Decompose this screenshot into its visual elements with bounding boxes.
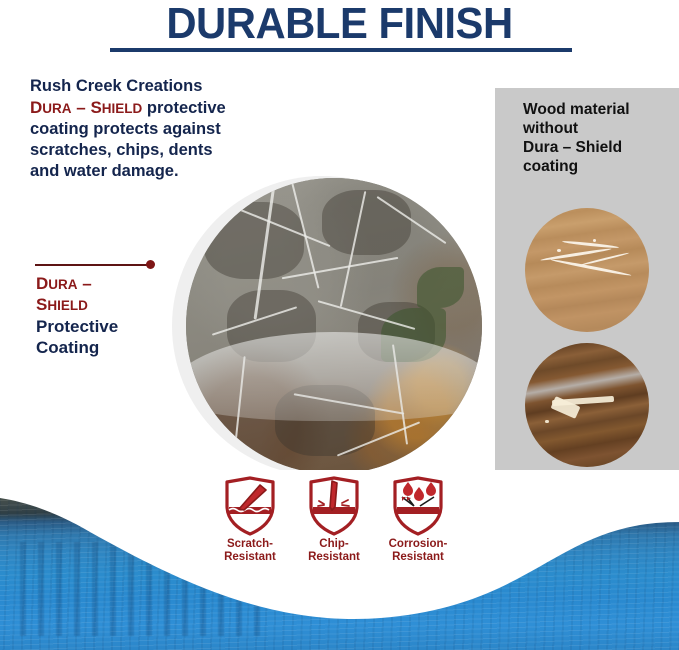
callout-coating: Coating [36, 337, 186, 358]
callout-shield-rest: HIELD [47, 298, 88, 313]
badge-label: Corrosion- Resistant [382, 538, 454, 563]
intro-line2-tail: protective [142, 99, 225, 117]
wood-scratch-fleck [557, 249, 561, 252]
camo-dark-blotch [204, 202, 305, 279]
dura-rest: URA [42, 101, 71, 116]
shield-cap-s: S [90, 98, 101, 117]
chip-resistant-shield-icon [306, 476, 362, 536]
camo-light-sheen [186, 332, 482, 421]
badge-scratch-resistant[interactable]: Scratch- Resistant [214, 476, 286, 563]
callout-dura-dash: – [78, 274, 92, 293]
right-caption-line2: without [523, 119, 673, 138]
badge-chip-resistant[interactable]: Chip- Resistant [298, 476, 370, 563]
light-wood-with-scratches-image [525, 208, 649, 332]
camo-dark-blotch [322, 190, 411, 255]
callout-label: DURA – SHIELD Protective Coating [36, 274, 186, 358]
right-caption-line4: coating [523, 157, 673, 176]
badge-label: Scratch- Resistant [214, 538, 286, 563]
shield-rest: HIELD [102, 101, 143, 116]
title-underline-rule [110, 48, 572, 52]
corrosion-resistant-shield-icon [390, 476, 446, 536]
infographic-canvas: DURABLE FINISH Rush Creek Creations DURA… [0, 0, 679, 650]
intro-paragraph: Rush Creek Creations DURA – SHIELD prote… [30, 76, 330, 182]
wood-scratch-mark [562, 240, 619, 249]
badge-label: Chip- Resistant [298, 538, 370, 563]
product-name-dura-shield: DURA – SHIELD [30, 98, 142, 117]
callout-dura-rest: URA [48, 277, 77, 292]
header: DURABLE FINISH [0, 0, 679, 47]
right-panel-caption: Wood material without Dura – Shield coat… [523, 100, 673, 176]
wood-scratch-fleck [593, 239, 596, 242]
scratch-resistant-shield-icon [222, 476, 278, 536]
callout-protective: Protective [36, 316, 186, 337]
right-caption-line1: Wood material [523, 100, 673, 119]
callout-shield-line: SHIELD [36, 295, 186, 316]
product-dash: – [72, 98, 91, 117]
camo-circle-image [186, 178, 482, 474]
feature-badges: Scratch- Resistant Chip- Resistant [214, 476, 454, 563]
intro-line4: scratches, chips, dents [30, 140, 330, 161]
callout-shield-cap: S [36, 295, 47, 314]
intro-line3: coating protects against [30, 119, 330, 140]
right-caption-line3: Dura – Shield [523, 138, 673, 157]
callout-dura-cap: D [36, 274, 48, 293]
dark-wood-with-chip-image [525, 343, 649, 467]
badge-corrosion-resistant[interactable]: Corrosion- Resistant [382, 476, 454, 563]
page-title: DURABLE FINISH [17, 0, 662, 47]
callout-leader-dot [146, 260, 155, 269]
dura-cap-d: D [30, 98, 42, 117]
wood-chip-fleck [545, 420, 549, 423]
callout-leader-line [35, 264, 149, 266]
brand-name: Rush Creek Creations [30, 76, 330, 97]
callout-dura-line: DURA – [36, 274, 186, 295]
